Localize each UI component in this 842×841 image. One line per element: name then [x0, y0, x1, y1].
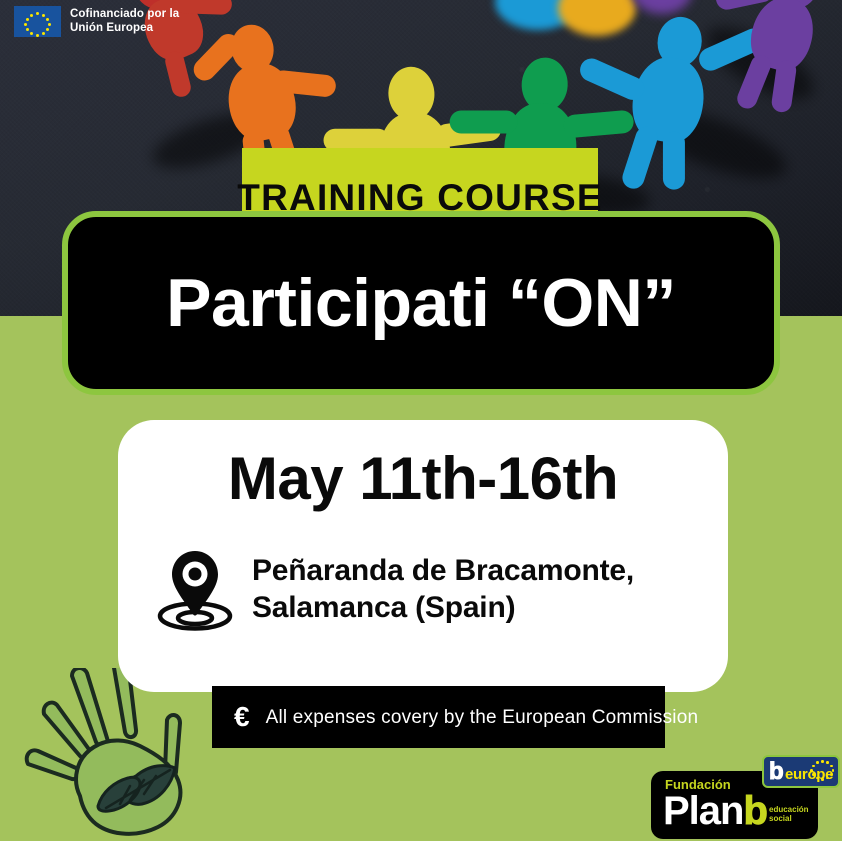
course-title-box: Participati “ON”	[62, 211, 780, 395]
beurope-logo: b europe	[762, 755, 840, 788]
figure-leg	[620, 124, 661, 192]
poster-root: Cofinanciado por la Unión Europea TRAINI…	[0, 0, 842, 841]
eu-funding-logo: Cofinanciado por la Unión Europea	[14, 6, 179, 37]
beurope-b-text: b	[769, 760, 784, 784]
eu-flag-icon	[14, 6, 61, 37]
planb-b-text: b	[743, 791, 766, 831]
figure-arm	[174, 0, 233, 15]
event-date: May 11th-16th	[118, 449, 728, 509]
course-title: Participati “ON”	[166, 269, 676, 337]
eu-funding-text: Cofinanciado por la Unión Europea	[70, 8, 179, 35]
planb-plan-text: Plan	[663, 791, 743, 831]
expenses-text: All expenses covery by the European Comm…	[266, 708, 699, 727]
figure-leg	[663, 132, 685, 190]
event-location-row: Peñaranda de Bracamonte, Salamanca (Spai…	[156, 546, 634, 632]
euro-symbol-icon: €	[234, 703, 250, 731]
map-pin-icon	[156, 548, 234, 632]
expenses-banner: € All expenses covery by the European Co…	[212, 686, 665, 748]
hand-leaf-icon	[10, 668, 215, 841]
event-location: Peñaranda de Bracamonte, Salamanca (Spai…	[252, 546, 634, 626]
event-info-card: May 11th-16th Peñaranda de Bracamonte, S…	[118, 420, 728, 692]
beurope-eu-stars-icon	[807, 758, 837, 788]
planb-wordmark: Plan b	[663, 791, 767, 831]
figure-arm	[450, 110, 518, 133]
planb-tagline: educación social	[769, 805, 809, 823]
figure-leg	[734, 52, 774, 111]
